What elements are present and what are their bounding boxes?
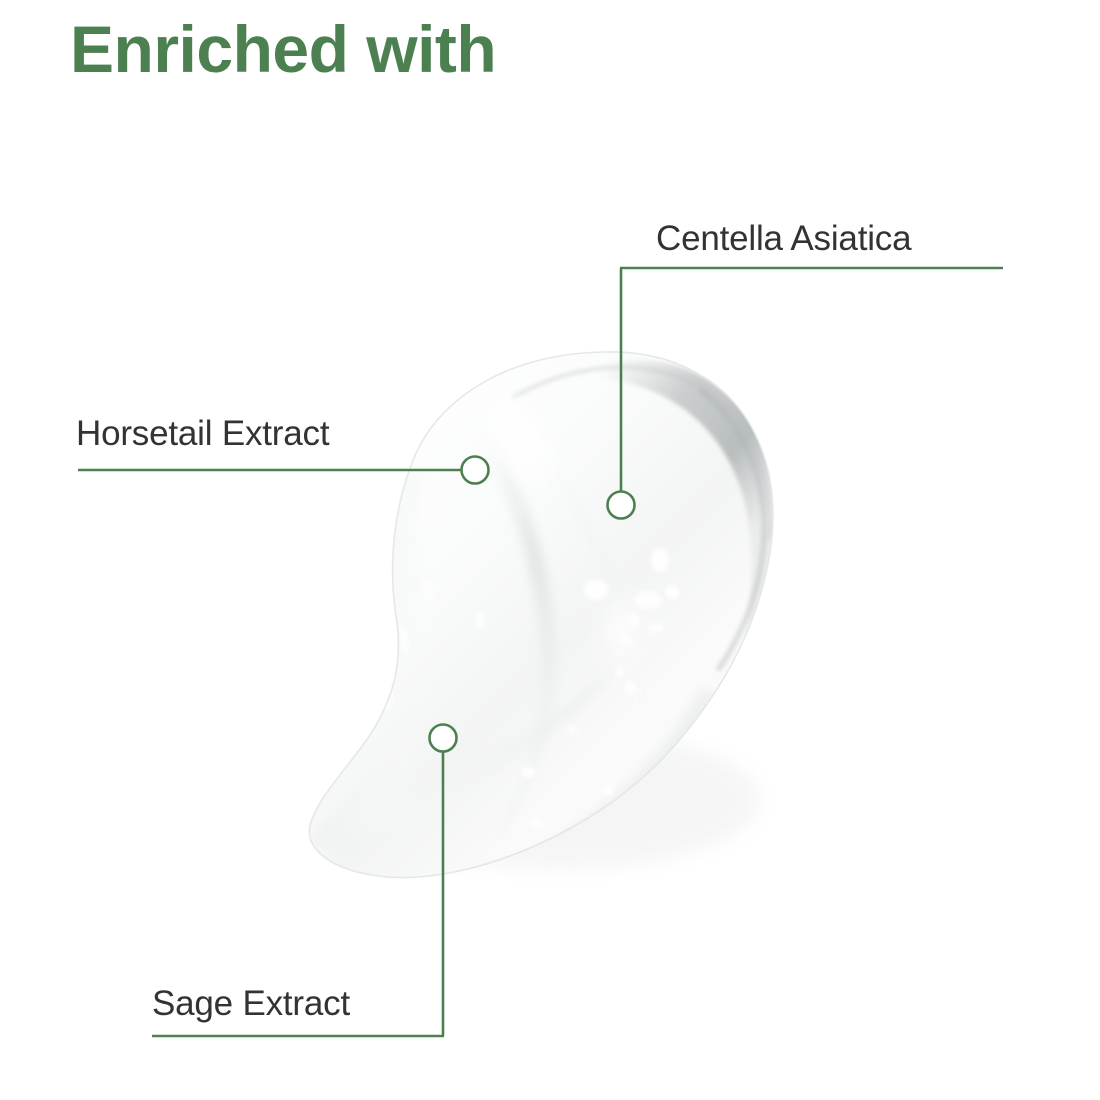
callout-label-sage-extract: Sage Extract bbox=[152, 984, 350, 1024]
sage-marker-dot[interactable] bbox=[430, 725, 457, 752]
callout-connector-horsetail bbox=[78, 457, 489, 484]
callout-connector-layer bbox=[0, 0, 1100, 1100]
callout-label-centella-asiatica: Centella Asiatica bbox=[656, 219, 911, 259]
callout-label-horsetail-extract: Horsetail Extract bbox=[76, 414, 329, 454]
horsetail-marker-dot[interactable] bbox=[462, 457, 489, 484]
ingredient-infographic: Enriched with bbox=[0, 0, 1100, 1100]
centella-marker-dot[interactable] bbox=[608, 492, 635, 519]
callout-connector-centella bbox=[608, 268, 1004, 519]
